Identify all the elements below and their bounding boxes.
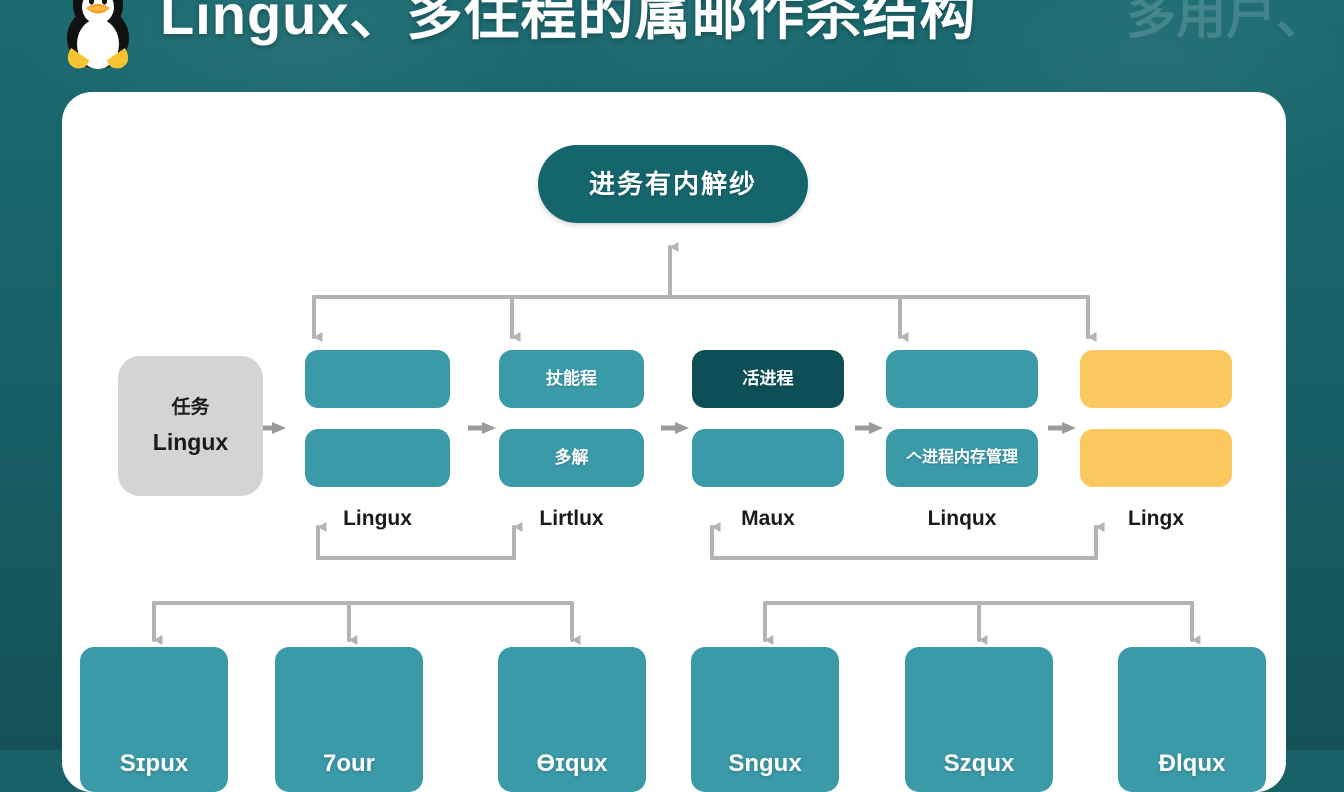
column-2-bottom-box[interactable]: 多解 [499, 429, 644, 487]
tux-penguin-icon [55, 0, 141, 70]
column-4-bottom-box[interactable]: 𠆢进程内存管理 [886, 429, 1038, 487]
entry-node-line2: Lingux [153, 428, 228, 457]
column-3-label: Maux [663, 507, 873, 531]
entry-node[interactable]: 任务 Lingux [118, 356, 263, 496]
column-5-label: Lingx [1051, 507, 1261, 531]
column-4-top-box[interactable] [886, 350, 1038, 408]
column-3-bottom-box[interactable] [692, 429, 844, 487]
bottom-node-5[interactable]: Szqux [905, 647, 1053, 792]
column-5-bottom-box[interactable] [1080, 429, 1232, 487]
column-4-label: Linqux [857, 507, 1067, 531]
column-5-top-box[interactable] [1080, 350, 1232, 408]
entry-node-line1: 任务 [171, 396, 209, 420]
ghost-title-text: 多用户、 [1126, 0, 1326, 48]
column-1-label: Lingux [275, 507, 480, 531]
column-1-top-box[interactable] [305, 350, 450, 408]
column-2-label: Lirtlux [469, 507, 674, 531]
column-2-top-box[interactable]: 扙能程 [499, 350, 644, 408]
page-header: Lingux、多住程的属邮作杀结构 多用户、 [0, 0, 1344, 92]
bottom-node-2[interactable]: 7our [275, 647, 423, 792]
bottom-node-4[interactable]: Sngux [691, 647, 839, 792]
page-title: Lingux、多住程的属邮作杀结构 [160, 0, 977, 51]
bottom-node-1[interactable]: Sɪpux [80, 647, 228, 792]
bottom-node-6[interactable]: Ðlqux [1118, 647, 1266, 792]
diagram-card: 进务有内觪纱 任务 Lingux Lingux 扙能程 多解 Lirtlux 㓉… [62, 92, 1286, 792]
column-1-bottom-box[interactable] [305, 429, 450, 487]
top-node[interactable]: 进务有内觪纱 [538, 145, 808, 223]
bottom-node-3[interactable]: Ɵɪqux [498, 647, 646, 792]
column-3-top-box[interactable]: 㓉进程 [692, 350, 844, 408]
